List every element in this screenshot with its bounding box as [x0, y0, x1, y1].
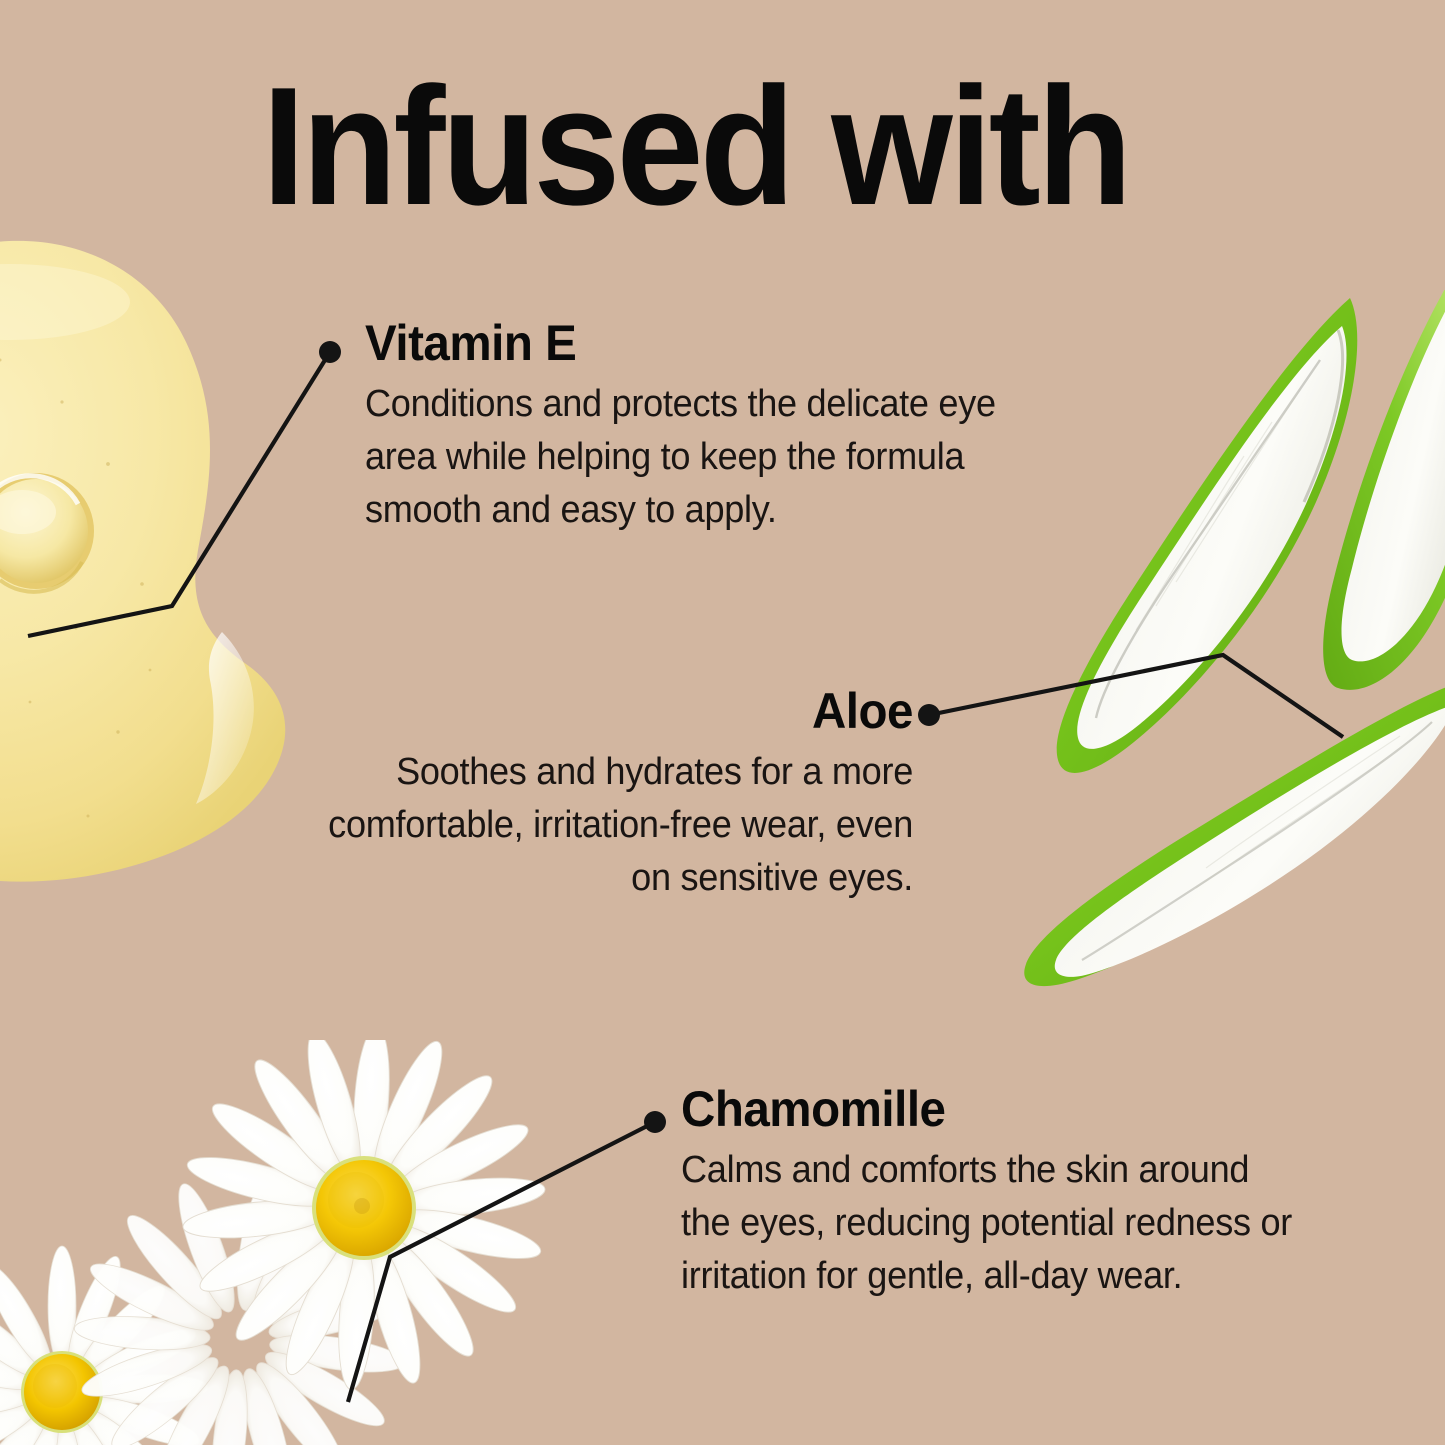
aloe-leaf-upper	[1057, 298, 1358, 773]
chamomile-flower-left	[0, 1246, 208, 1445]
ingredient-description-aloe: Soothes and hydrates for a more comforta…	[324, 746, 913, 905]
ingredient-description-chamomille: Calms and comforts the skin around the e…	[681, 1144, 1308, 1303]
leader-line-vitamin-e	[28, 352, 330, 636]
serum-bubble	[0, 473, 94, 592]
leader-dot-vitamin-e	[319, 341, 341, 363]
ingredient-title-chamomille: Chamomille	[681, 1084, 1308, 1134]
page-title: Infused with	[262, 62, 1129, 230]
chamomile-flowers-image	[0, 1040, 620, 1445]
chamomile-flower-mid	[73, 1174, 406, 1445]
ingredient-description-vitamin-e: Conditions and protects the delicate eye…	[365, 378, 1011, 537]
ingredient-block-aloe: Aloe Soothes and hydrates for a more com…	[293, 686, 913, 905]
aloe-vera-leaves-image	[1020, 290, 1445, 1000]
ingredient-title-aloe: Aloe	[324, 686, 913, 736]
leader-line-chamomille	[348, 1122, 655, 1402]
aloe-leaf-right	[1323, 290, 1445, 690]
ingredient-block-chamomille: Chamomille Calms and comforts the skin a…	[681, 1084, 1341, 1303]
chamomile-flower-main	[181, 1040, 547, 1391]
aloe-leaf-lower	[1024, 682, 1445, 986]
infographic-canvas: Infused with Vitamin E Conditions and pr…	[0, 0, 1445, 1445]
ingredient-title-vitamin-e: Vitamin E	[365, 318, 1011, 368]
leader-dot-aloe	[918, 704, 940, 726]
leader-dot-chamomille	[644, 1111, 666, 1133]
vitamin-e-serum-swatch-image	[0, 232, 310, 892]
leader-line-aloe	[929, 655, 1343, 737]
ingredient-block-vitamin-e: Vitamin E Conditions and protects the de…	[365, 318, 1045, 537]
